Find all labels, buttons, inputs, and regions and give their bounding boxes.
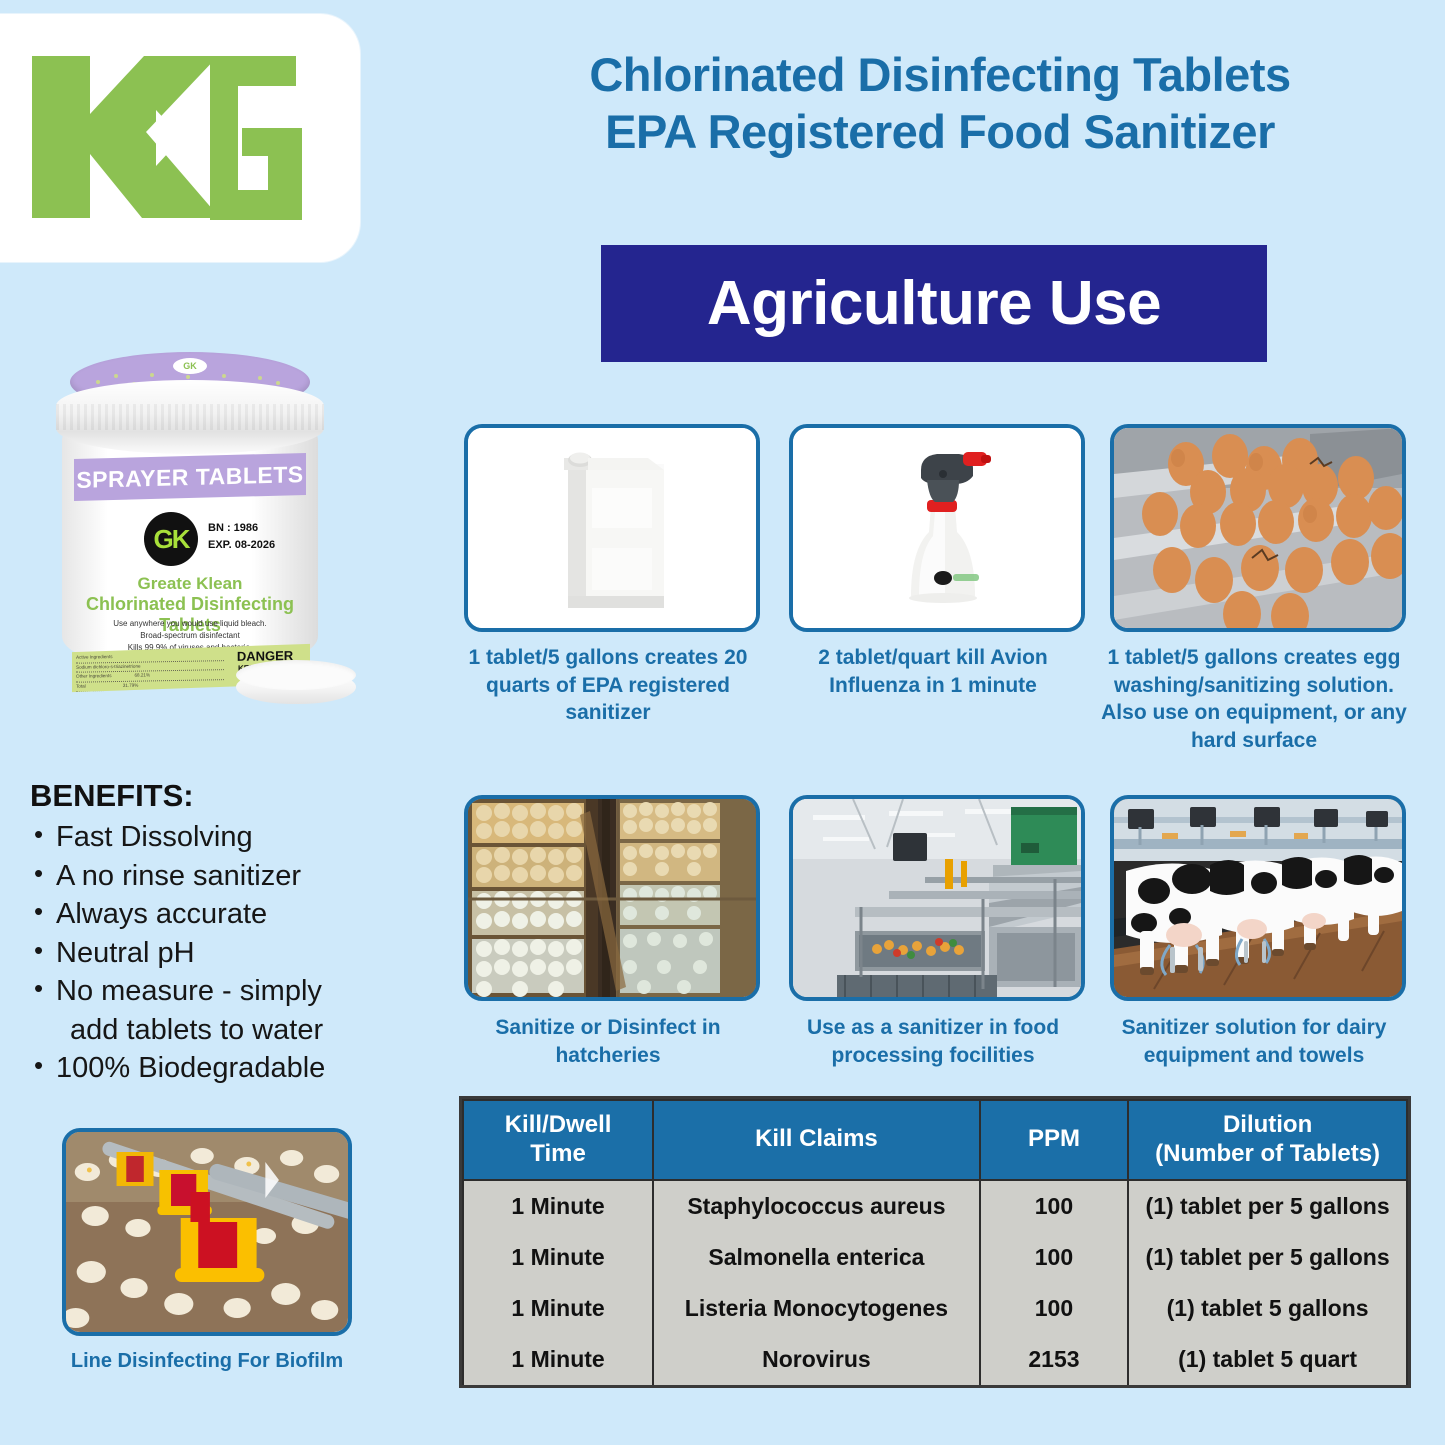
page-title: Chlorinated Disinfecting Tablets EPA Reg… — [440, 46, 1440, 161]
kill-claims-table: Kill/DwellTime Kill Claims PPM Dilution(… — [459, 1096, 1411, 1388]
card-food-processing-caption: Use as a sanitizer in food processing fo… — [775, 1014, 1091, 1069]
benefit-item: No measure - simply — [30, 972, 430, 1011]
benefit-item: A no rinse sanitizer — [30, 857, 430, 896]
tub-brand-name: Greate Klean — [56, 574, 324, 594]
cell-ppm: 2153 — [980, 1334, 1128, 1385]
poultry-house-photo — [62, 1128, 352, 1336]
cell-claim: Listeria Monocytogenes — [653, 1283, 980, 1334]
cell-dilution: (1) tablet per 5 gallons — [1128, 1232, 1407, 1283]
page-title-line2: EPA Registered Food Sanitizer — [440, 103, 1440, 160]
card-hatchery-caption: Sanitize or Disinfect in hatcheries — [450, 1014, 766, 1069]
hand-sprayer-photo — [789, 424, 1085, 632]
biofilm-card: Line Disinfecting For Biofilm — [62, 1128, 352, 1373]
benefit-item: Neutral pH — [30, 934, 430, 973]
card-dairy-cows — [1110, 795, 1398, 993]
cell-ppm: 100 — [980, 1232, 1128, 1283]
food-processing-photo — [789, 795, 1085, 1001]
card-hand-sprayer — [789, 424, 1077, 624]
table-row: 1 Minute Salmonella enterica 100 (1) tab… — [463, 1232, 1407, 1283]
batch-info: BN : 1986 EXP. 08-2026 — [208, 520, 275, 554]
jerrycan-photo — [464, 424, 760, 632]
cell-claim: Norovirus — [653, 1334, 980, 1385]
gk-badge-icon: GK — [144, 512, 198, 566]
card-hatchery — [464, 795, 752, 993]
expiry-date: EXP. 08-2026 — [208, 537, 275, 554]
tub-collar — [56, 380, 324, 454]
benefit-item-continuation: add tablets to water — [30, 1011, 430, 1050]
eggs-conveyor-photo — [1110, 424, 1406, 632]
biofilm-caption: Line Disinfecting For Biofilm — [62, 1350, 352, 1373]
cell-time: 1 Minute — [463, 1334, 653, 1385]
brand-logo-panel — [0, 14, 360, 262]
column-header-dilution: Dilution(Number of Tablets) — [1128, 1100, 1407, 1180]
lid-gk-logo-icon: GK — [173, 358, 207, 374]
card-dairy-cows-caption: Sanitizer solution for dairy equipment a… — [1096, 1014, 1412, 1069]
card-eggs-conveyor-caption: 1 tablet/5 gallons creates egg washing/s… — [1096, 644, 1412, 755]
table-row: 1 Minute Staphylococcus aureus 100 (1) t… — [463, 1180, 1407, 1232]
benefits-heading: BENEFITS: — [30, 778, 430, 814]
cell-time: 1 Minute — [463, 1180, 653, 1232]
benefit-item: Fast Dissolving — [30, 818, 430, 857]
dairy-cows-photo — [1110, 795, 1406, 1001]
cell-dilution: (1) tablet per 5 gallons — [1128, 1180, 1407, 1232]
column-header-ppm: PPM — [980, 1100, 1128, 1180]
cell-claim: Staphylococcus aureus — [653, 1180, 980, 1232]
tub-label-title-band: SPRAYER TABLETS — [74, 453, 306, 501]
cell-time: 1 Minute — [463, 1283, 653, 1334]
card-food-processing — [789, 795, 1077, 993]
card-jerrycan-caption: 1 tablet/5 gallons creates 20 quarts of … — [450, 644, 766, 727]
agriculture-use-banner: Agriculture Use — [601, 245, 1267, 362]
column-header-kill-dwell-time: Kill/DwellTime — [463, 1100, 653, 1180]
benefits-section: BENEFITS: Fast Dissolving A no rinse san… — [30, 778, 430, 1088]
card-jerrycan — [464, 424, 752, 624]
tablet-tub: GK SPRAYER TABLETS GK BN : 1986 EXP. 08-… — [56, 352, 324, 682]
tub-label-title: SPRAYER TABLETS — [76, 461, 303, 494]
cell-dilution: (1) tablet 5 quart — [1128, 1334, 1407, 1385]
table-row: 1 Minute Norovirus 2153 (1) tablet 5 qua… — [463, 1334, 1407, 1385]
benefit-item: Always accurate — [30, 895, 430, 934]
page-title-line1: Chlorinated Disinfecting Tablets — [440, 46, 1440, 103]
cell-claim: Salmonella enterica — [653, 1232, 980, 1283]
banner-label: Agriculture Use — [707, 268, 1161, 339]
column-header-kill-claims: Kill Claims — [653, 1100, 980, 1180]
batch-number: BN : 1986 — [208, 520, 275, 537]
product-image: GK SPRAYER TABLETS GK BN : 1986 EXP. 08-… — [28, 352, 358, 752]
ingredient-text: Active Ingredients Sodium dichloro-s-tri… — [76, 651, 224, 692]
card-eggs-conveyor — [1110, 424, 1398, 624]
kg-logo-icon — [14, 38, 314, 238]
cell-time: 1 Minute — [463, 1232, 653, 1283]
table-header-row: Kill/DwellTime Kill Claims PPM Dilution(… — [463, 1100, 1407, 1180]
table-row: 1 Minute Listeria Monocytogenes 100 (1) … — [463, 1283, 1407, 1334]
hatchery-photo — [464, 795, 760, 1001]
card-hand-sprayer-caption: 2 tablet/quart kill Avion Influenza in 1… — [775, 644, 1091, 699]
cell-dilution: (1) tablet 5 gallons — [1128, 1283, 1407, 1334]
loose-tablet — [236, 660, 356, 716]
cell-ppm: 100 — [980, 1180, 1128, 1232]
infographic-canvas: Chlorinated Disinfecting Tablets EPA Reg… — [0, 0, 1445, 1445]
cell-ppm: 100 — [980, 1283, 1128, 1334]
benefit-item: 100% Biodegradable — [30, 1049, 430, 1088]
benefits-list: Fast Dissolving A no rinse sanitizer Alw… — [30, 818, 430, 1088]
